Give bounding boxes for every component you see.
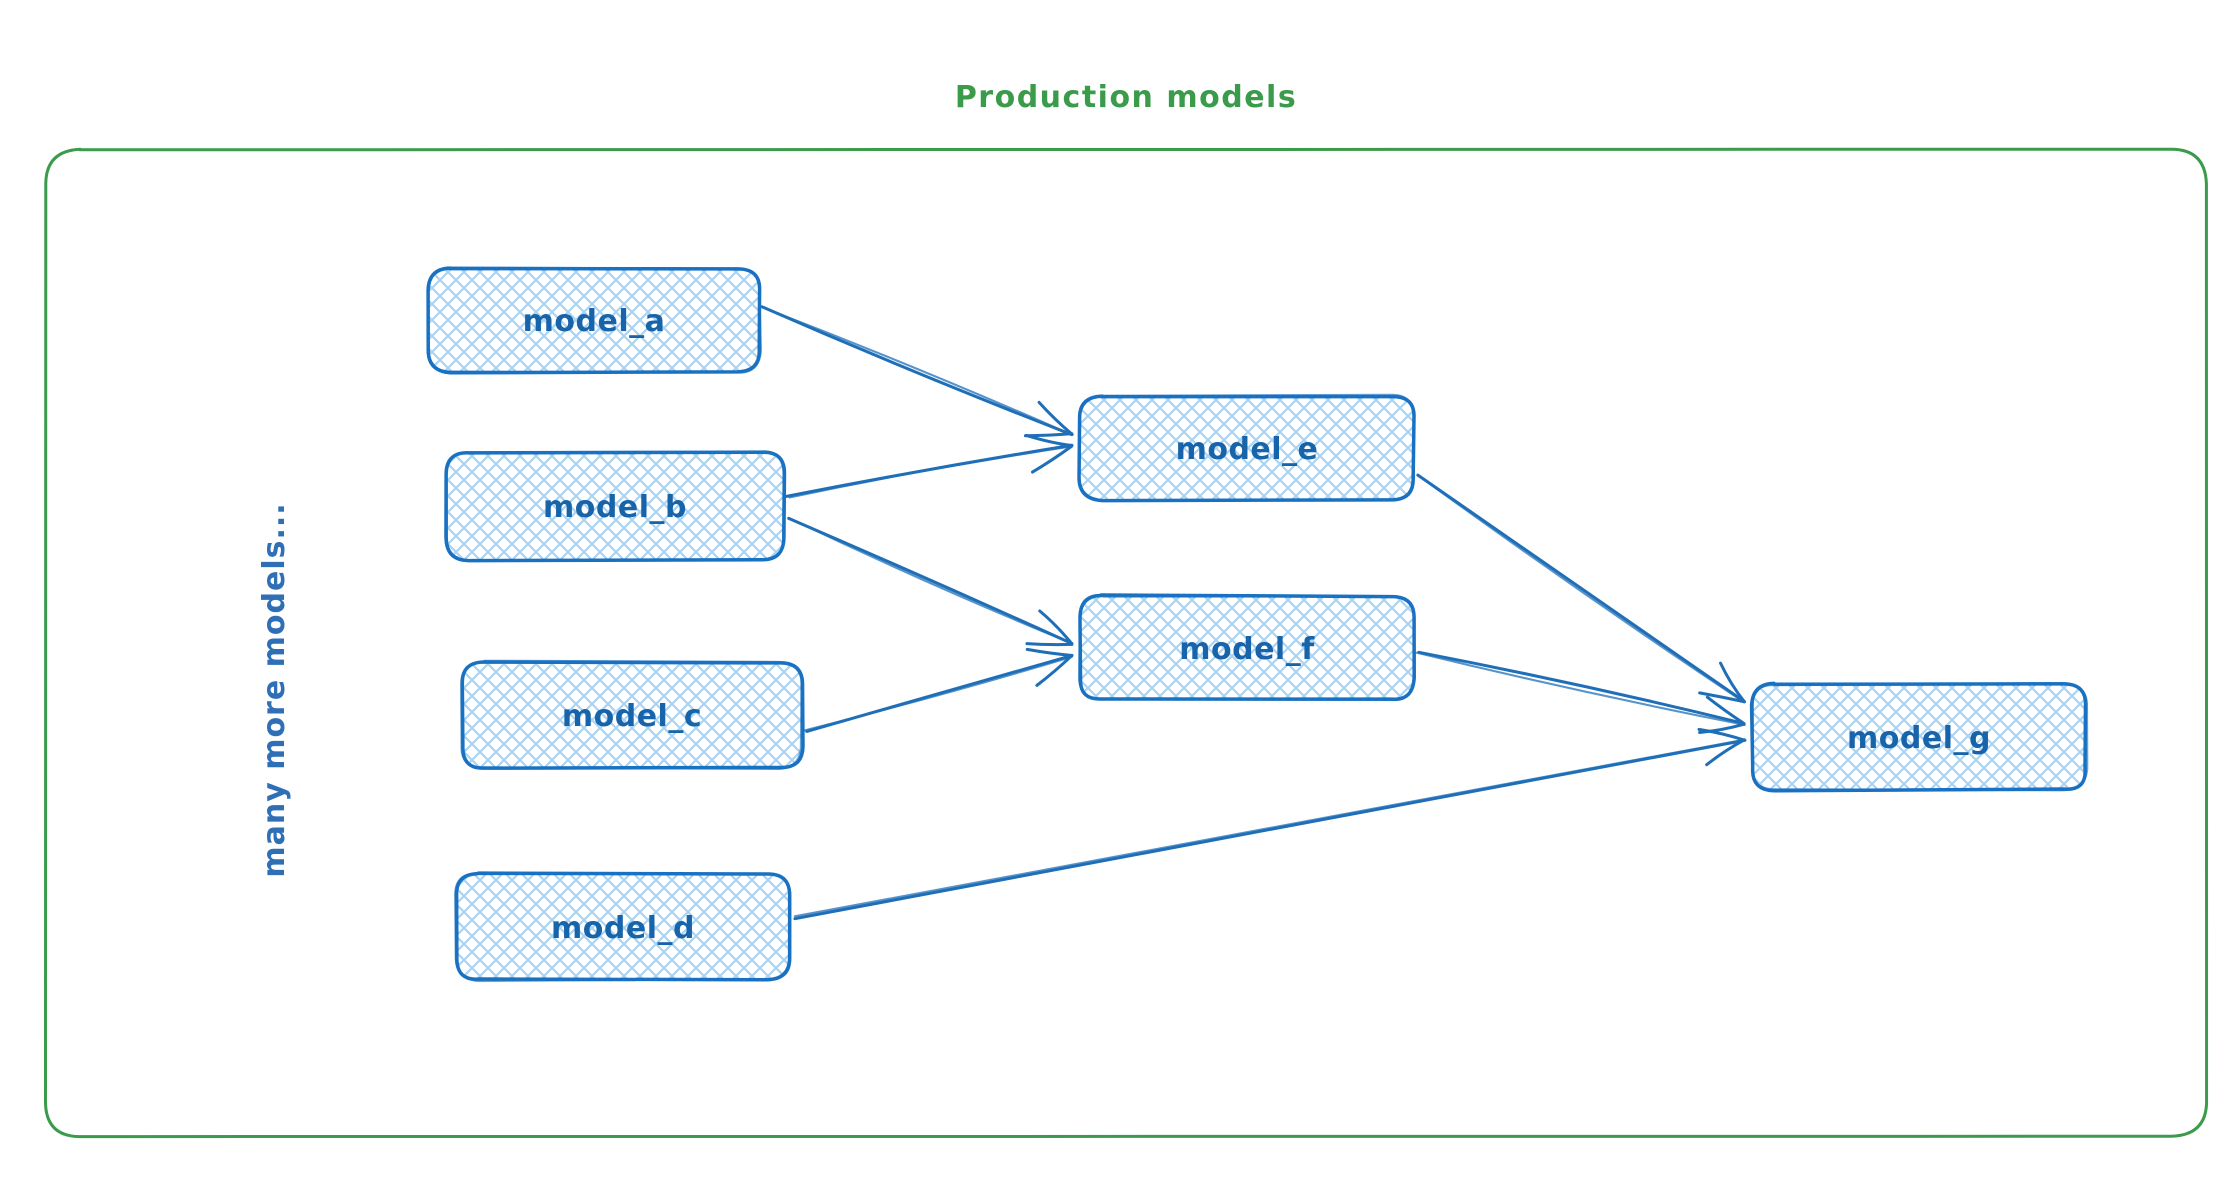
- edge-stroke: [1416, 653, 1744, 725]
- edge-a-to-e: [762, 307, 1072, 436]
- arrowhead-barb: [1027, 649, 1072, 655]
- arrowhead-barb: [1025, 434, 1071, 436]
- edge-d-to-g: [795, 729, 1745, 918]
- edge-f-to-g: [1416, 652, 1744, 732]
- arrowhead-barb: [1026, 435, 1072, 445]
- node-model_c[interactable]: model_c: [461, 661, 803, 769]
- node-label-model_c: model_c: [562, 699, 702, 734]
- cluster-title: Production models: [955, 80, 1297, 115]
- node-group: model_amodel_bmodel_cmodel_dmodel_emodel…: [428, 267, 2087, 981]
- diagram-svg: Production models many more models... mo…: [0, 0, 2240, 1188]
- edge-stroke: [763, 308, 1071, 435]
- arrowhead-barb: [1721, 663, 1745, 702]
- node-model_d[interactable]: model_d: [455, 873, 790, 981]
- edge-stroke: [1419, 652, 1743, 723]
- node-model_f[interactable]: model_f: [1079, 595, 1415, 700]
- node-label-model_b: model_b: [543, 490, 687, 525]
- node-model_a[interactable]: model_a: [428, 267, 761, 372]
- node-label-model_d: model_d: [551, 911, 695, 946]
- node-model_e[interactable]: model_e: [1079, 395, 1414, 501]
- annotation-many-more: many more models...: [257, 502, 292, 877]
- edge-e-to-g: [1418, 475, 1745, 702]
- edge-b-to-f: [789, 518, 1072, 644]
- arrowhead-barb: [1027, 644, 1072, 645]
- node-model_g[interactable]: model_g: [1752, 683, 2088, 791]
- node-label-model_e: model_e: [1176, 432, 1319, 467]
- edge-stroke: [790, 446, 1073, 497]
- annotation-group: many more models...: [257, 502, 292, 877]
- edge-stroke: [795, 740, 1744, 917]
- edge-b-to-e: [787, 435, 1073, 497]
- node-model_b[interactable]: model_b: [445, 451, 784, 561]
- node-label-model_a: model_a: [523, 304, 666, 339]
- edge-c-to-f: [804, 649, 1072, 731]
- edge-stroke: [1418, 475, 1744, 701]
- diagram-canvas: Production models many more models... mo…: [0, 0, 2240, 1188]
- arrowhead-barb: [1040, 611, 1072, 644]
- node-label-model_g: model_g: [1847, 721, 1991, 756]
- node-label-model_f: model_f: [1179, 632, 1315, 667]
